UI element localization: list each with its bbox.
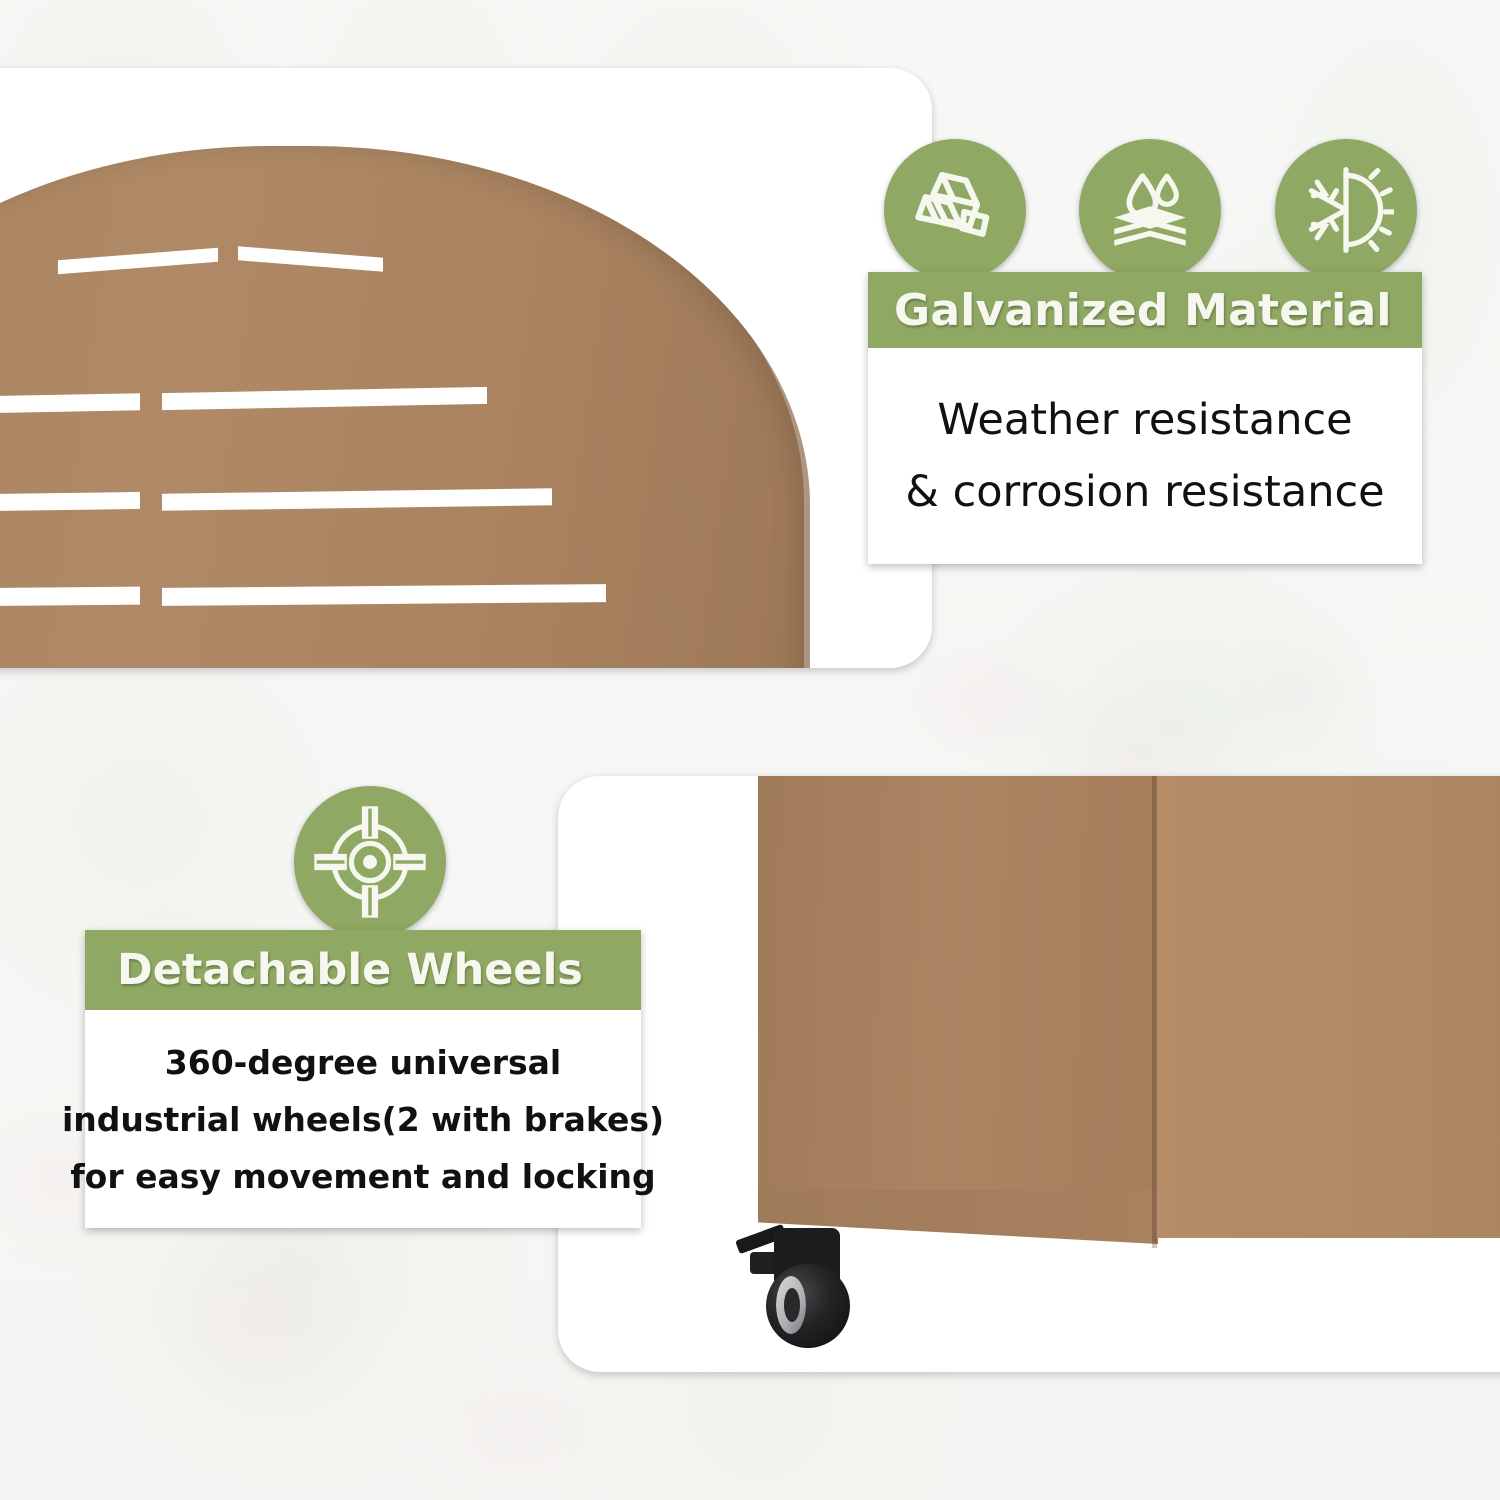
vent-slot bbox=[0, 587, 140, 608]
feature-card-title: Galvanized Material bbox=[868, 272, 1422, 348]
sun-snowflake-icon bbox=[1275, 139, 1417, 281]
feature-card-detachable-wheels: Detachable Wheels 360-degree universal i… bbox=[85, 930, 641, 1228]
feature-line: industrial wheels(2 with brakes) bbox=[62, 1100, 664, 1139]
feature-line: Weather resistance bbox=[937, 395, 1352, 445]
feature-line: 360-degree universal bbox=[165, 1043, 561, 1082]
planter-box-side-face bbox=[1156, 776, 1500, 1238]
product-photo-panel-bottom bbox=[558, 776, 1500, 1372]
feature-line: & corrosion resistance bbox=[905, 467, 1384, 517]
product-photo-panel-top bbox=[0, 68, 932, 668]
feature-line: for easy movement and locking bbox=[70, 1157, 655, 1196]
planter-box-with-casters bbox=[558, 776, 1500, 1372]
feature-card-title: Detachable Wheels bbox=[85, 930, 641, 1010]
feature-card-galvanized-material: Galvanized Material Weather resistance &… bbox=[868, 272, 1422, 564]
target-crosshair-icon bbox=[294, 786, 446, 938]
feature-card-body: 360-degree universal industrial wheels(2… bbox=[85, 1010, 641, 1228]
arched-slatted-planter-panel bbox=[0, 146, 810, 668]
caster-hub-center bbox=[784, 1288, 800, 1322]
planter-box-corner-seam bbox=[1152, 776, 1157, 1248]
feature-card-body: Weather resistance & corrosion resistanc… bbox=[868, 348, 1422, 564]
planter-box-front-face bbox=[758, 776, 1158, 1198]
vent-slot bbox=[162, 584, 606, 606]
metal-bars-icon bbox=[884, 139, 1026, 281]
water-layers-icon bbox=[1079, 139, 1221, 281]
